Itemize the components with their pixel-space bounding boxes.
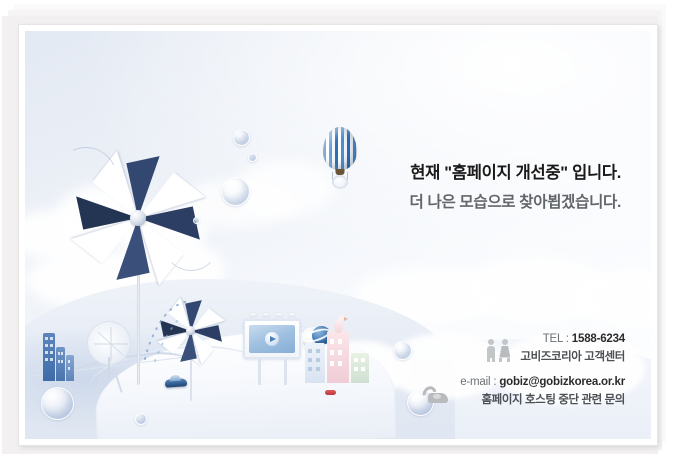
motion-arc: [163, 215, 219, 271]
email-description: 홈페이지 호스팅 중단 관련 문의: [460, 391, 625, 407]
building-blue-mid: [56, 347, 65, 381]
billboard-lamp: [262, 312, 270, 318]
balloon-envelope: [323, 127, 357, 170]
billboard-post: [258, 359, 261, 385]
bubble: [193, 217, 200, 224]
wind-trail: [137, 299, 197, 365]
bubble: [248, 153, 257, 162]
balloon-basket: [332, 175, 348, 189]
billboard-screen: [249, 325, 295, 353]
pinwheel-hub: [130, 210, 146, 226]
page-root: 현재 "홈페이지 개선중" 입니다. 더 나은 모습으로 찾아뵙겠습니다.: [0, 0, 673, 460]
content-frame: 현재 "홈페이지 개선중" 입니다. 더 나은 모습으로 찾아뵙겠습니다.: [18, 24, 658, 446]
headline-line-2: 더 나은 모습으로 찾아뵙겠습니다.: [410, 193, 621, 213]
email-label: e-mail :: [460, 376, 499, 388]
billboard-lamp: [275, 312, 283, 318]
building-green: [351, 353, 369, 383]
contact-info: TEL : 1588-6234 고비즈코리아 고객센터: [422, 333, 625, 407]
building-blue-tall: [43, 333, 55, 381]
tel-number: 1588-6234: [572, 333, 625, 345]
building-blue-short: [66, 355, 74, 381]
building-white: [305, 343, 325, 383]
billboard-lamp: [288, 312, 296, 318]
people-icon: [486, 336, 512, 362]
billboard-post: [284, 359, 287, 385]
bird-icon: [330, 315, 348, 333]
billboard-frame: [243, 319, 301, 359]
play-button-icon[interactable]: [265, 332, 279, 346]
building-pink: [327, 331, 349, 383]
bubble: [233, 129, 250, 146]
email-line: e-mail : gobiz@gobizkorea.or.kr: [460, 376, 625, 388]
billboard-lamp: [249, 312, 257, 318]
email-address[interactable]: gobiz@gobizkorea.or.kr: [499, 376, 625, 388]
headline: 현재 "홈페이지 개선중" 입니다. 더 나은 모습으로 찾아뵙겠습니다.: [410, 163, 621, 213]
dish-arm: [108, 357, 110, 379]
car-red: [325, 390, 336, 395]
phone-icon: [422, 379, 452, 405]
car-blue: [165, 378, 188, 388]
dish-crosshair: [91, 325, 131, 365]
illustration-scene: 현재 "홈페이지 개선중" 입니다. 더 나은 모습으로 찾아뵙겠습니다.: [25, 31, 651, 439]
tel-block: TEL : 1588-6234 고비즈코리아 고객센터: [422, 333, 625, 364]
pinwheel-large: [63, 143, 213, 293]
bubble: [221, 177, 250, 206]
tel-line: TEL : 1588-6234: [520, 333, 625, 345]
bubble: [41, 387, 74, 420]
tel-description: 고비즈코리아 고객센터: [520, 348, 625, 364]
bubble: [135, 413, 147, 425]
email-block: e-mail : gobiz@gobizkorea.or.kr 홈페이지 호스팅…: [422, 376, 625, 407]
tel-label: TEL :: [543, 333, 572, 345]
bubble: [393, 341, 412, 360]
headline-line-1: 현재 "홈페이지 개선중" 입니다.: [410, 163, 621, 184]
hot-air-balloon: [323, 127, 357, 170]
